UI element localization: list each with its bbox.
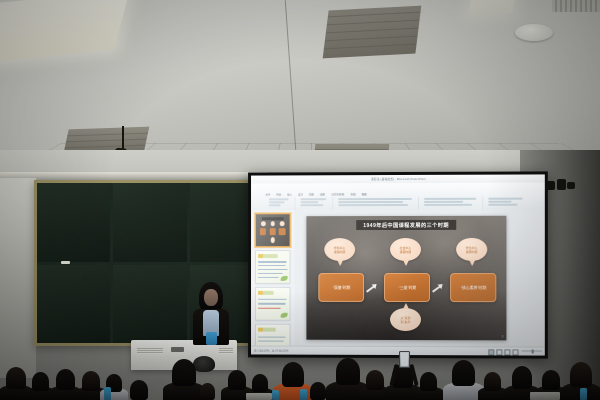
presenter (189, 282, 233, 344)
projector-badge (171, 347, 184, 352)
view-slideshow-icon[interactable] (512, 349, 518, 355)
stage-box[interactable]: “核心素养”时期 (450, 273, 496, 302)
slide-thumbnail[interactable] (255, 213, 291, 247)
projector-lens-icon (193, 356, 215, 372)
ribbon-tab[interactable]: 开始 (276, 193, 281, 196)
ribbon-tab[interactable]: 插入 (287, 193, 292, 196)
ribbon-group-clipboard[interactable] (269, 198, 289, 206)
slide-counter: 第 1 张幻灯片，共 24 张幻灯片 (254, 349, 289, 353)
slide-thumbnail[interactable] (255, 287, 291, 321)
ceiling-light-fixture (0, 0, 130, 63)
stage-box[interactable]: “双基”时期 (318, 273, 364, 302)
blue-cup (206, 332, 217, 345)
callout-tail-icon (402, 260, 408, 266)
ribbon-tab[interactable]: 动画 (320, 193, 325, 196)
callout-text: 学生中心 课程时期 (466, 246, 478, 253)
view-normal-icon[interactable] (488, 349, 494, 355)
ribbon[interactable]: 文件开始插入设计切换动画幻灯片放映审阅视图 (251, 182, 545, 211)
ribbon-group-font[interactable] (338, 198, 412, 206)
wall-ledge (0, 172, 268, 180)
callout-bubble[interactable]: 学生中心 课程时期 (456, 238, 487, 261)
stage-box[interactable]: “三维”时期 (384, 273, 430, 302)
presenter-face (204, 289, 218, 306)
slide-canvas[interactable]: 1949年后中国课程发展的三个时期 学科中心 课程时期 社会中心 课程时期 学生… (295, 210, 545, 348)
callout-bubble[interactable]: 学科中心 课程时期 (324, 238, 355, 261)
callout-tail-icon (469, 260, 475, 266)
ribbon-group-drawing[interactable] (488, 198, 522, 206)
ribbon-tab[interactable]: 审阅 (351, 192, 356, 195)
summary-callout-text: 从“双基” 到“素养” (400, 316, 411, 323)
ribbon-tabs[interactable]: 文件开始插入设计切换动画幻灯片放映审阅视图 (265, 192, 367, 196)
ribbon-tab[interactable]: 幻灯片放映 (331, 192, 344, 195)
callout-text: 社会中心 课程时期 (400, 246, 412, 253)
wall-speaker-bracket (543, 178, 577, 194)
ceiling-wire (285, 0, 296, 150)
view-sorter-icon[interactable] (496, 349, 502, 355)
zoom-slider-knob[interactable] (532, 349, 534, 353)
ribbon-tab[interactable]: 设计 (298, 193, 303, 196)
slide-title: 1949年后中国课程发展的三个时期 (356, 220, 456, 230)
slide-thumbnail[interactable] (255, 324, 291, 347)
slide-page-number: 5 (502, 334, 504, 338)
summary-callout-bubble[interactable]: 从“双基” 到“素养” (390, 308, 421, 331)
ribbon-tab[interactable]: 文件 (265, 193, 270, 196)
ribbon-group-paragraph[interactable] (424, 198, 476, 206)
powerpoint-window[interactable]: 课程论 [兼容模式] - Microsoft PowerPoint 文件开始插入… (251, 174, 545, 355)
stage-label: “核心素养”时期 (460, 285, 485, 291)
callout-bubble[interactable]: 社会中心 课程时期 (390, 238, 421, 261)
projection-screen: 课程论 [兼容模式] - Microsoft PowerPoint 文件开始插入… (248, 171, 548, 358)
ceiling-light-fixture (468, 0, 516, 14)
slide-thumbnail[interactable] (255, 250, 291, 284)
current-slide[interactable]: 1949年后中国课程发展的三个时期 学科中心 课程时期 社会中心 课程时期 学生… (306, 216, 506, 341)
stage-label: “双基”时期 (332, 285, 350, 291)
callout-tail-icon (337, 260, 343, 266)
callout-tail-icon (402, 303, 408, 309)
left-wall-panel (0, 178, 36, 378)
callout-text: 学科中心 课程时期 (334, 246, 346, 253)
smoke-detector-icon (515, 24, 553, 41)
window-title: 课程论 [兼容模式] - Microsoft PowerPoint (371, 177, 426, 181)
ribbon-group-slides[interactable] (300, 198, 326, 206)
status-bar[interactable]: 第 1 张幻灯片，共 24 张幻灯片 (251, 345, 545, 355)
view-buttons[interactable] (488, 349, 518, 355)
classroom-photo: 课程论 [兼容模式] - Microsoft PowerPoint 文件开始插入… (0, 0, 600, 400)
ribbon-tab[interactable]: 切换 (309, 193, 314, 196)
slide-thumbnail-rail[interactable] (251, 210, 295, 346)
stage-label: “三维”时期 (398, 285, 416, 291)
ribbon-tab[interactable]: 视图 (362, 192, 367, 195)
arrow-right-icon (366, 280, 377, 289)
ceiling-vent (552, 0, 600, 12)
ceiling-light-fixture (323, 6, 422, 59)
arrow-right-icon (432, 280, 443, 289)
view-reading-icon[interactable] (504, 349, 510, 355)
